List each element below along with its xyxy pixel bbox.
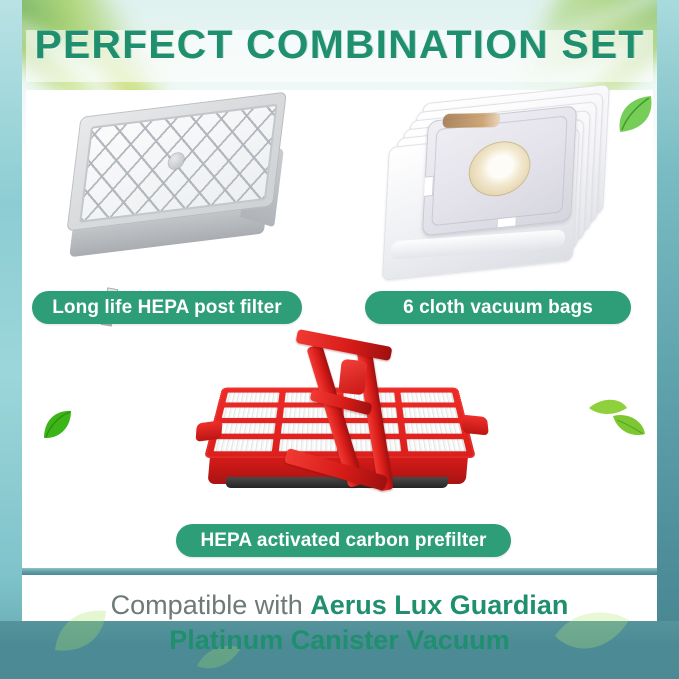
section-divider xyxy=(22,568,657,575)
compatibility-brand-line-2: Platinum Canister Vacuum xyxy=(169,625,510,655)
prefilter-carbon-foam-layer xyxy=(226,477,449,488)
prefilter-cell xyxy=(218,423,276,434)
compatibility-text: Compatible with Aerus Lux Guardian Plati… xyxy=(0,588,679,657)
compatibility-prefix: Compatible with xyxy=(111,590,311,620)
product-label-hepa-carbon-prefilter: HEPA activated carbon prefilter xyxy=(176,524,511,557)
prefilter-cell xyxy=(405,423,463,434)
prefilter-cell xyxy=(214,439,274,451)
prefilter-cell xyxy=(403,407,459,417)
prefilter-cell xyxy=(222,407,278,417)
left-border-strip xyxy=(0,0,22,679)
product-label-hepa-post-filter: Long life HEPA post filter xyxy=(32,291,302,324)
product-poster: PERFECT COMBINATION SET xyxy=(0,0,679,679)
prefilter-cell xyxy=(281,423,337,434)
white-cloth-vacuum-bags-stack-photo xyxy=(380,79,616,281)
product-image-hepa-post-filter xyxy=(62,96,292,281)
prefilter-cell xyxy=(343,393,396,403)
prefilter-cell xyxy=(343,439,401,451)
prefilter-cell xyxy=(283,407,337,417)
gray-hepa-post-filter-photo xyxy=(61,92,287,276)
bag-seal-tab xyxy=(442,113,501,128)
bag-notch xyxy=(424,176,434,197)
prefilter-cell xyxy=(225,393,279,403)
prefilter-cell xyxy=(401,393,455,403)
bag-intake-port-icon xyxy=(467,138,532,199)
prefilter-side-tab xyxy=(461,414,489,435)
compatibility-line-2: Platinum Canister Vacuum xyxy=(0,623,679,658)
prefilter-cell xyxy=(407,439,467,451)
right-border-strip xyxy=(657,0,679,679)
product-label-cloth-vacuum-bags: 6 cloth vacuum bags xyxy=(365,291,631,324)
product-image-cloth-vacuum-bags xyxy=(378,88,620,284)
product-image-hepa-carbon-prefilter xyxy=(196,344,488,516)
page-title: PERFECT COMBINATION SET xyxy=(0,23,679,68)
compatibility-brand-line-1: Aerus Lux Guardian xyxy=(310,590,568,620)
prefilter-cell xyxy=(343,423,399,434)
bag-fabric-fold xyxy=(390,229,566,259)
prefilter-cell xyxy=(279,439,337,451)
compatibility-line-1: Compatible with Aerus Lux Guardian xyxy=(0,588,679,623)
prefilter-cell xyxy=(343,407,397,417)
prefilter-cell xyxy=(284,393,337,403)
prefilter-pleat-grid xyxy=(204,387,476,458)
bag-cardboard-collar xyxy=(422,105,577,236)
